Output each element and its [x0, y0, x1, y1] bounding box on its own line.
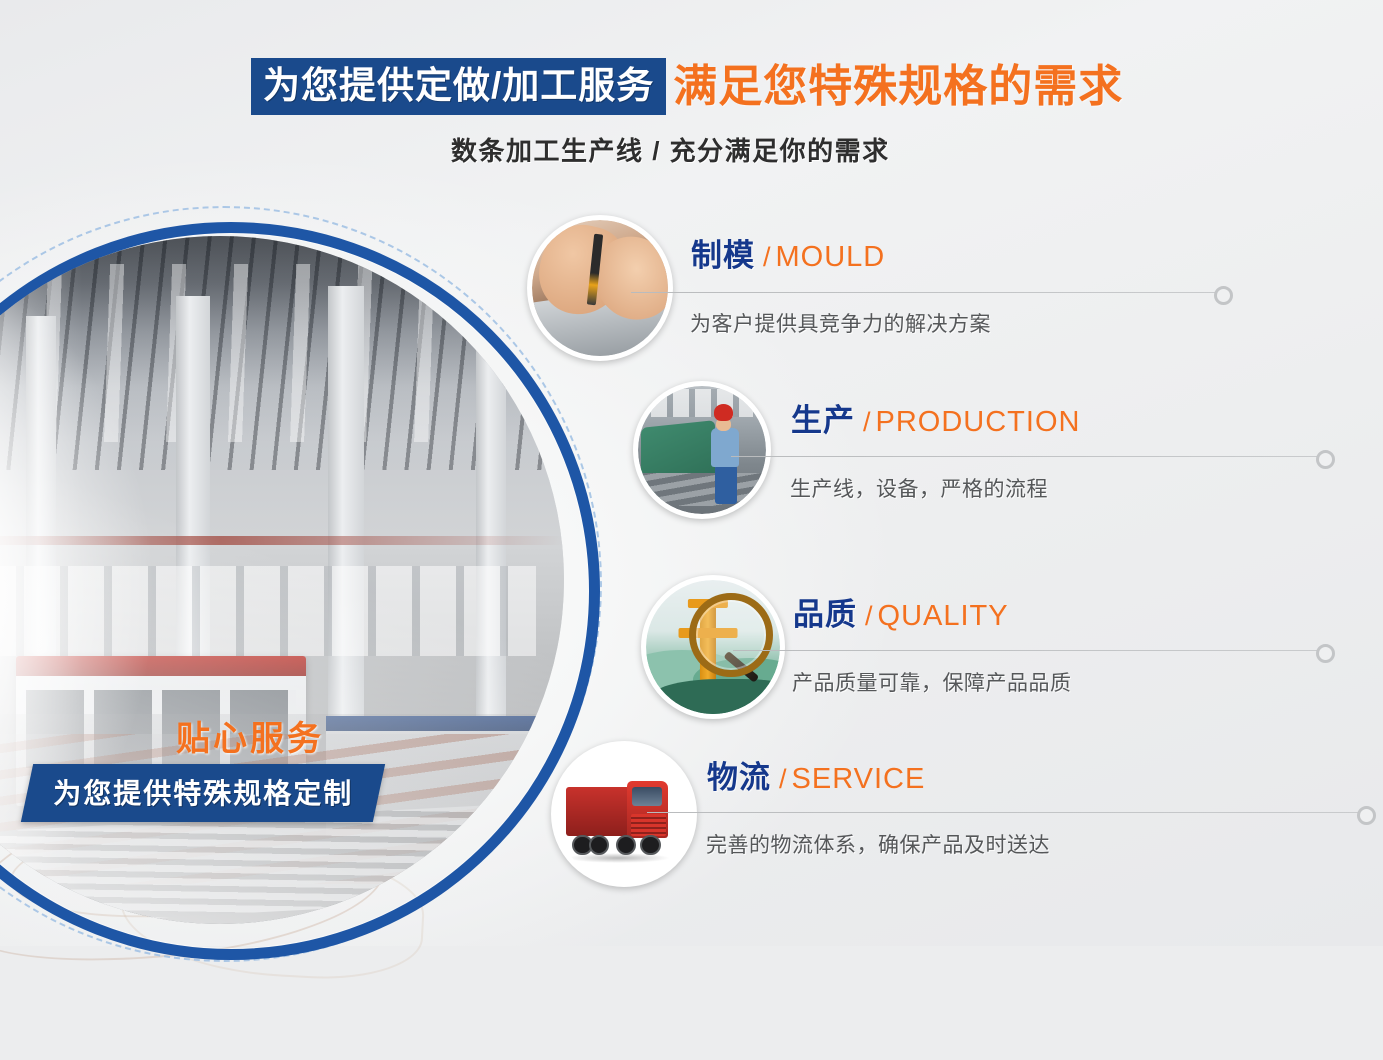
- feature-title-en: SERVICE: [792, 763, 926, 795]
- feature-divider: [631, 292, 1221, 293]
- feature-heading: 物流/SERVICE: [707, 762, 925, 794]
- hand-marking-tool-icon: [527, 215, 673, 361]
- header: 为您提供定做/加工服务 满足您特殊规格的需求 数条加工生产线 / 充分满足你的需…: [0, 0, 1383, 190]
- callout-banner: 为您提供特殊规格定制: [21, 764, 385, 822]
- title-badge: 为您提供定做/加工服务: [251, 58, 666, 115]
- feature-divider-dot: [1214, 286, 1233, 305]
- feature-divider-dot: [1316, 450, 1335, 469]
- feature-heading: 生产/PRODUCTION: [791, 405, 1080, 437]
- feature-description: 为客户提供具竞争力的解决方案: [690, 308, 991, 338]
- red-truck-icon: [551, 741, 697, 887]
- feature-description: 生产线，设备，严格的流程: [790, 473, 1048, 503]
- feature-title-cn: 制模: [691, 238, 755, 273]
- feature-divider: [647, 812, 1363, 813]
- feature-title-cn: 物流: [707, 760, 771, 795]
- feature-separator: /: [863, 407, 871, 437]
- feature-separator: /: [763, 242, 771, 272]
- feature-title-en: QUALITY: [878, 600, 1009, 632]
- feature-divider-dot: [1357, 806, 1376, 825]
- feature-divider: [733, 650, 1323, 651]
- feature-title-en: PRODUCTION: [876, 406, 1081, 438]
- feature-description: 完善的物流体系，确保产品及时送达: [706, 829, 1050, 859]
- subtitle: 数条加工生产线 / 充分满足你的需求: [451, 131, 890, 168]
- feature-title-cn: 生产: [791, 403, 855, 438]
- feature-divider-dot: [1316, 644, 1335, 663]
- feature-separator: /: [865, 601, 873, 631]
- factory-worker-icon: [633, 381, 771, 519]
- feature-heading: 品质/QUALITY: [793, 599, 1009, 631]
- promo-banner: 为您提供定做/加工服务 满足您特殊规格的需求 数条加工生产线 / 充分满足你的需…: [0, 0, 1383, 946]
- feature-title-cn: 品质: [793, 597, 857, 632]
- feature-divider: [731, 456, 1323, 457]
- feature-heading: 制模/MOULD: [691, 240, 885, 272]
- magnifier-tower-icon: [641, 575, 785, 719]
- callout-title: 贴心服务: [176, 711, 324, 760]
- feature-description: 产品质量可靠，保障产品品质: [792, 667, 1072, 697]
- feature-title-en: MOULD: [776, 241, 886, 273]
- title-row: 为您提供定做/加工服务 满足您特殊规格的需求: [251, 58, 1123, 115]
- feature-separator: /: [779, 764, 787, 794]
- callout-banner-label: 为您提供特殊规格定制: [53, 772, 353, 812]
- title-highlight: 满足您特殊规格的需求: [673, 65, 1123, 109]
